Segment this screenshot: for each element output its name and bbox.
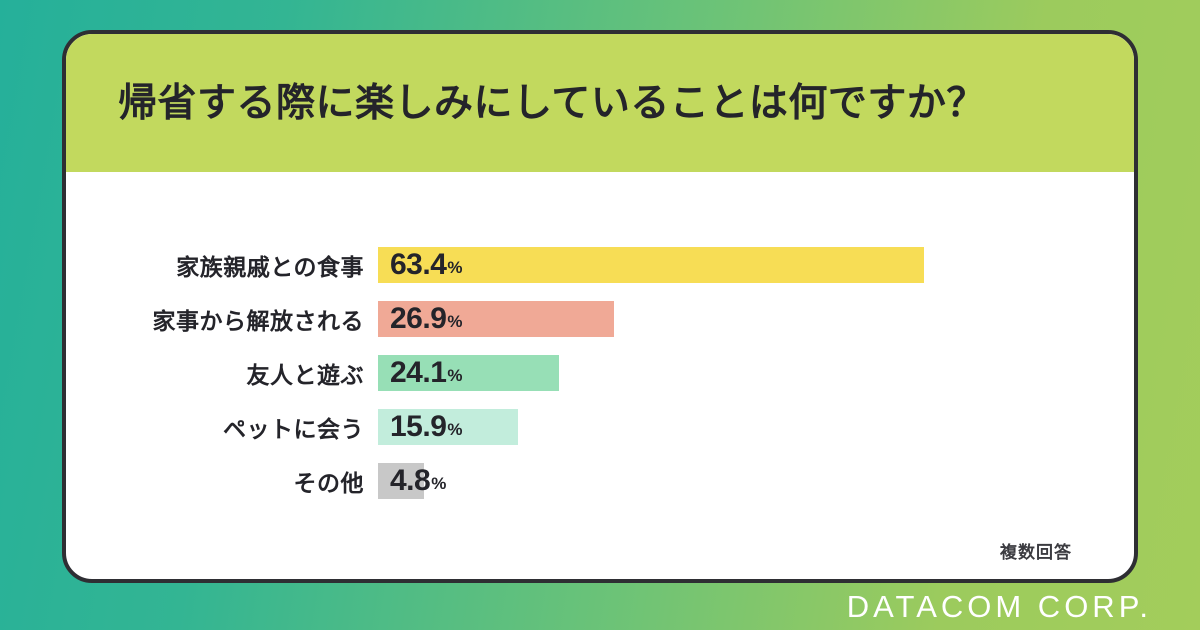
bar-value: 63.4%: [390, 247, 463, 283]
content-card: 帰省する際に楽しみにしていることは何ですか？ 家族親戚との食事63.4%家事から…: [62, 30, 1138, 583]
brand-logo: DATACOM CORP.: [847, 591, 1152, 622]
bar-label: その他: [66, 464, 378, 498]
bar-value: 4.8%: [390, 463, 446, 499]
bar-row: 友人と遊ぶ24.1%: [66, 355, 1134, 391]
bar-label: 家族親戚との食事: [66, 248, 378, 282]
bar-value-unit: %: [447, 259, 462, 276]
bar-value-unit: %: [431, 475, 446, 492]
poster: 帰省する際に楽しみにしていることは何ですか？ 家族親戚との食事63.4%家事から…: [0, 0, 1200, 630]
bar-area: 63.4%: [378, 247, 1134, 283]
bar-label: ペットに会う: [66, 410, 378, 444]
bar-value-number: 26.9: [390, 304, 446, 334]
bar-label: 家事から解放される: [66, 302, 378, 336]
bar-area: 24.1%: [378, 355, 1134, 391]
bar-value-unit: %: [447, 313, 462, 330]
bar-chart: 家族親戚との食事63.4%家事から解放される26.9%友人と遊ぶ24.1%ペット…: [66, 172, 1134, 579]
bar-value-unit: %: [447, 367, 462, 384]
bar-value: 26.9%: [390, 301, 463, 337]
bar-area: 15.9%: [378, 409, 1134, 445]
title-banner: 帰省する際に楽しみにしていることは何ですか？: [66, 34, 1134, 172]
bar-value: 24.1%: [390, 355, 463, 391]
chart-note: 複数回答: [1000, 538, 1072, 563]
page-title: 帰省する際に楽しみにしていることは何ですか？: [118, 84, 986, 123]
bar-label: 友人と遊ぶ: [66, 356, 378, 390]
bar-row: ペットに会う15.9%: [66, 409, 1134, 445]
bar-value: 15.9%: [390, 409, 463, 445]
bar-area: 4.8%: [378, 463, 1134, 499]
bar-value-number: 15.9: [390, 412, 446, 442]
bar-chart-rows: 家族親戚との食事63.4%家事から解放される26.9%友人と遊ぶ24.1%ペット…: [66, 247, 1134, 517]
bar-row: 家事から解放される26.9%: [66, 301, 1134, 337]
bar-value-number: 63.4: [390, 250, 446, 280]
bar-row: 家族親戚との食事63.4%: [66, 247, 1134, 283]
bar-value-number: 24.1: [390, 358, 446, 388]
bar-value-unit: %: [447, 421, 462, 438]
bar-value-number: 4.8: [390, 466, 430, 496]
bar-area: 26.9%: [378, 301, 1134, 337]
bar-row: その他4.8%: [66, 463, 1134, 499]
